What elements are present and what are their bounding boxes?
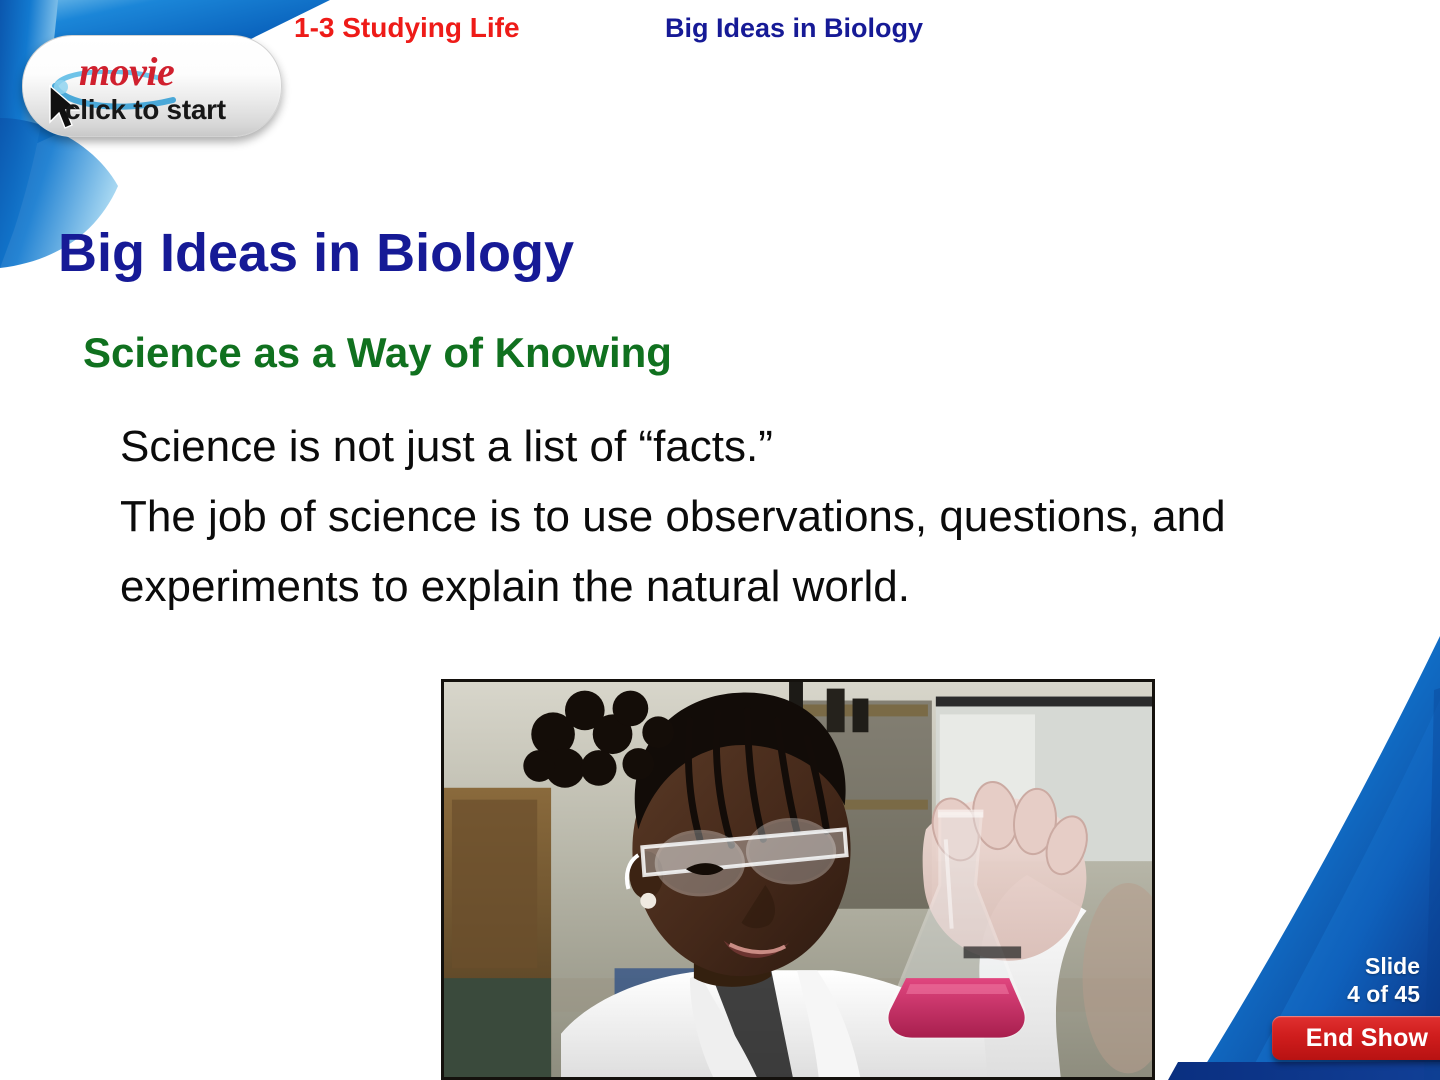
presentation-slide: movie click to start 1-3 Studying Life B… bbox=[0, 0, 1440, 1080]
movie-caption: click to start bbox=[65, 94, 226, 126]
slide-counter: Slide 4 of 45 bbox=[1347, 952, 1420, 1008]
slide-counter-label: Slide bbox=[1347, 952, 1420, 980]
movie-label: movie bbox=[79, 48, 174, 95]
lab-student-photo bbox=[441, 679, 1155, 1080]
page-title: Big Ideas in Biology bbox=[58, 222, 574, 284]
header-topic: Big Ideas in Biology bbox=[665, 13, 923, 44]
slide-counter-position: 4 of 45 bbox=[1347, 980, 1420, 1008]
end-show-button[interactable]: End Show bbox=[1272, 1016, 1440, 1060]
body-paragraph-2: The job of science is to use observation… bbox=[120, 482, 1365, 622]
header-lesson-number: 1-3 Studying Life bbox=[294, 12, 520, 44]
body-paragraph-1: Science is not just a list of “facts.” bbox=[120, 412, 1360, 482]
page-subtitle: Science as a Way of Knowing bbox=[83, 329, 672, 377]
lab-photo-illustration bbox=[444, 682, 1152, 1077]
slide-body: Science is not just a list of “facts.” T… bbox=[120, 412, 1360, 622]
movie-click-to-start-button[interactable]: movie click to start bbox=[22, 35, 282, 137]
